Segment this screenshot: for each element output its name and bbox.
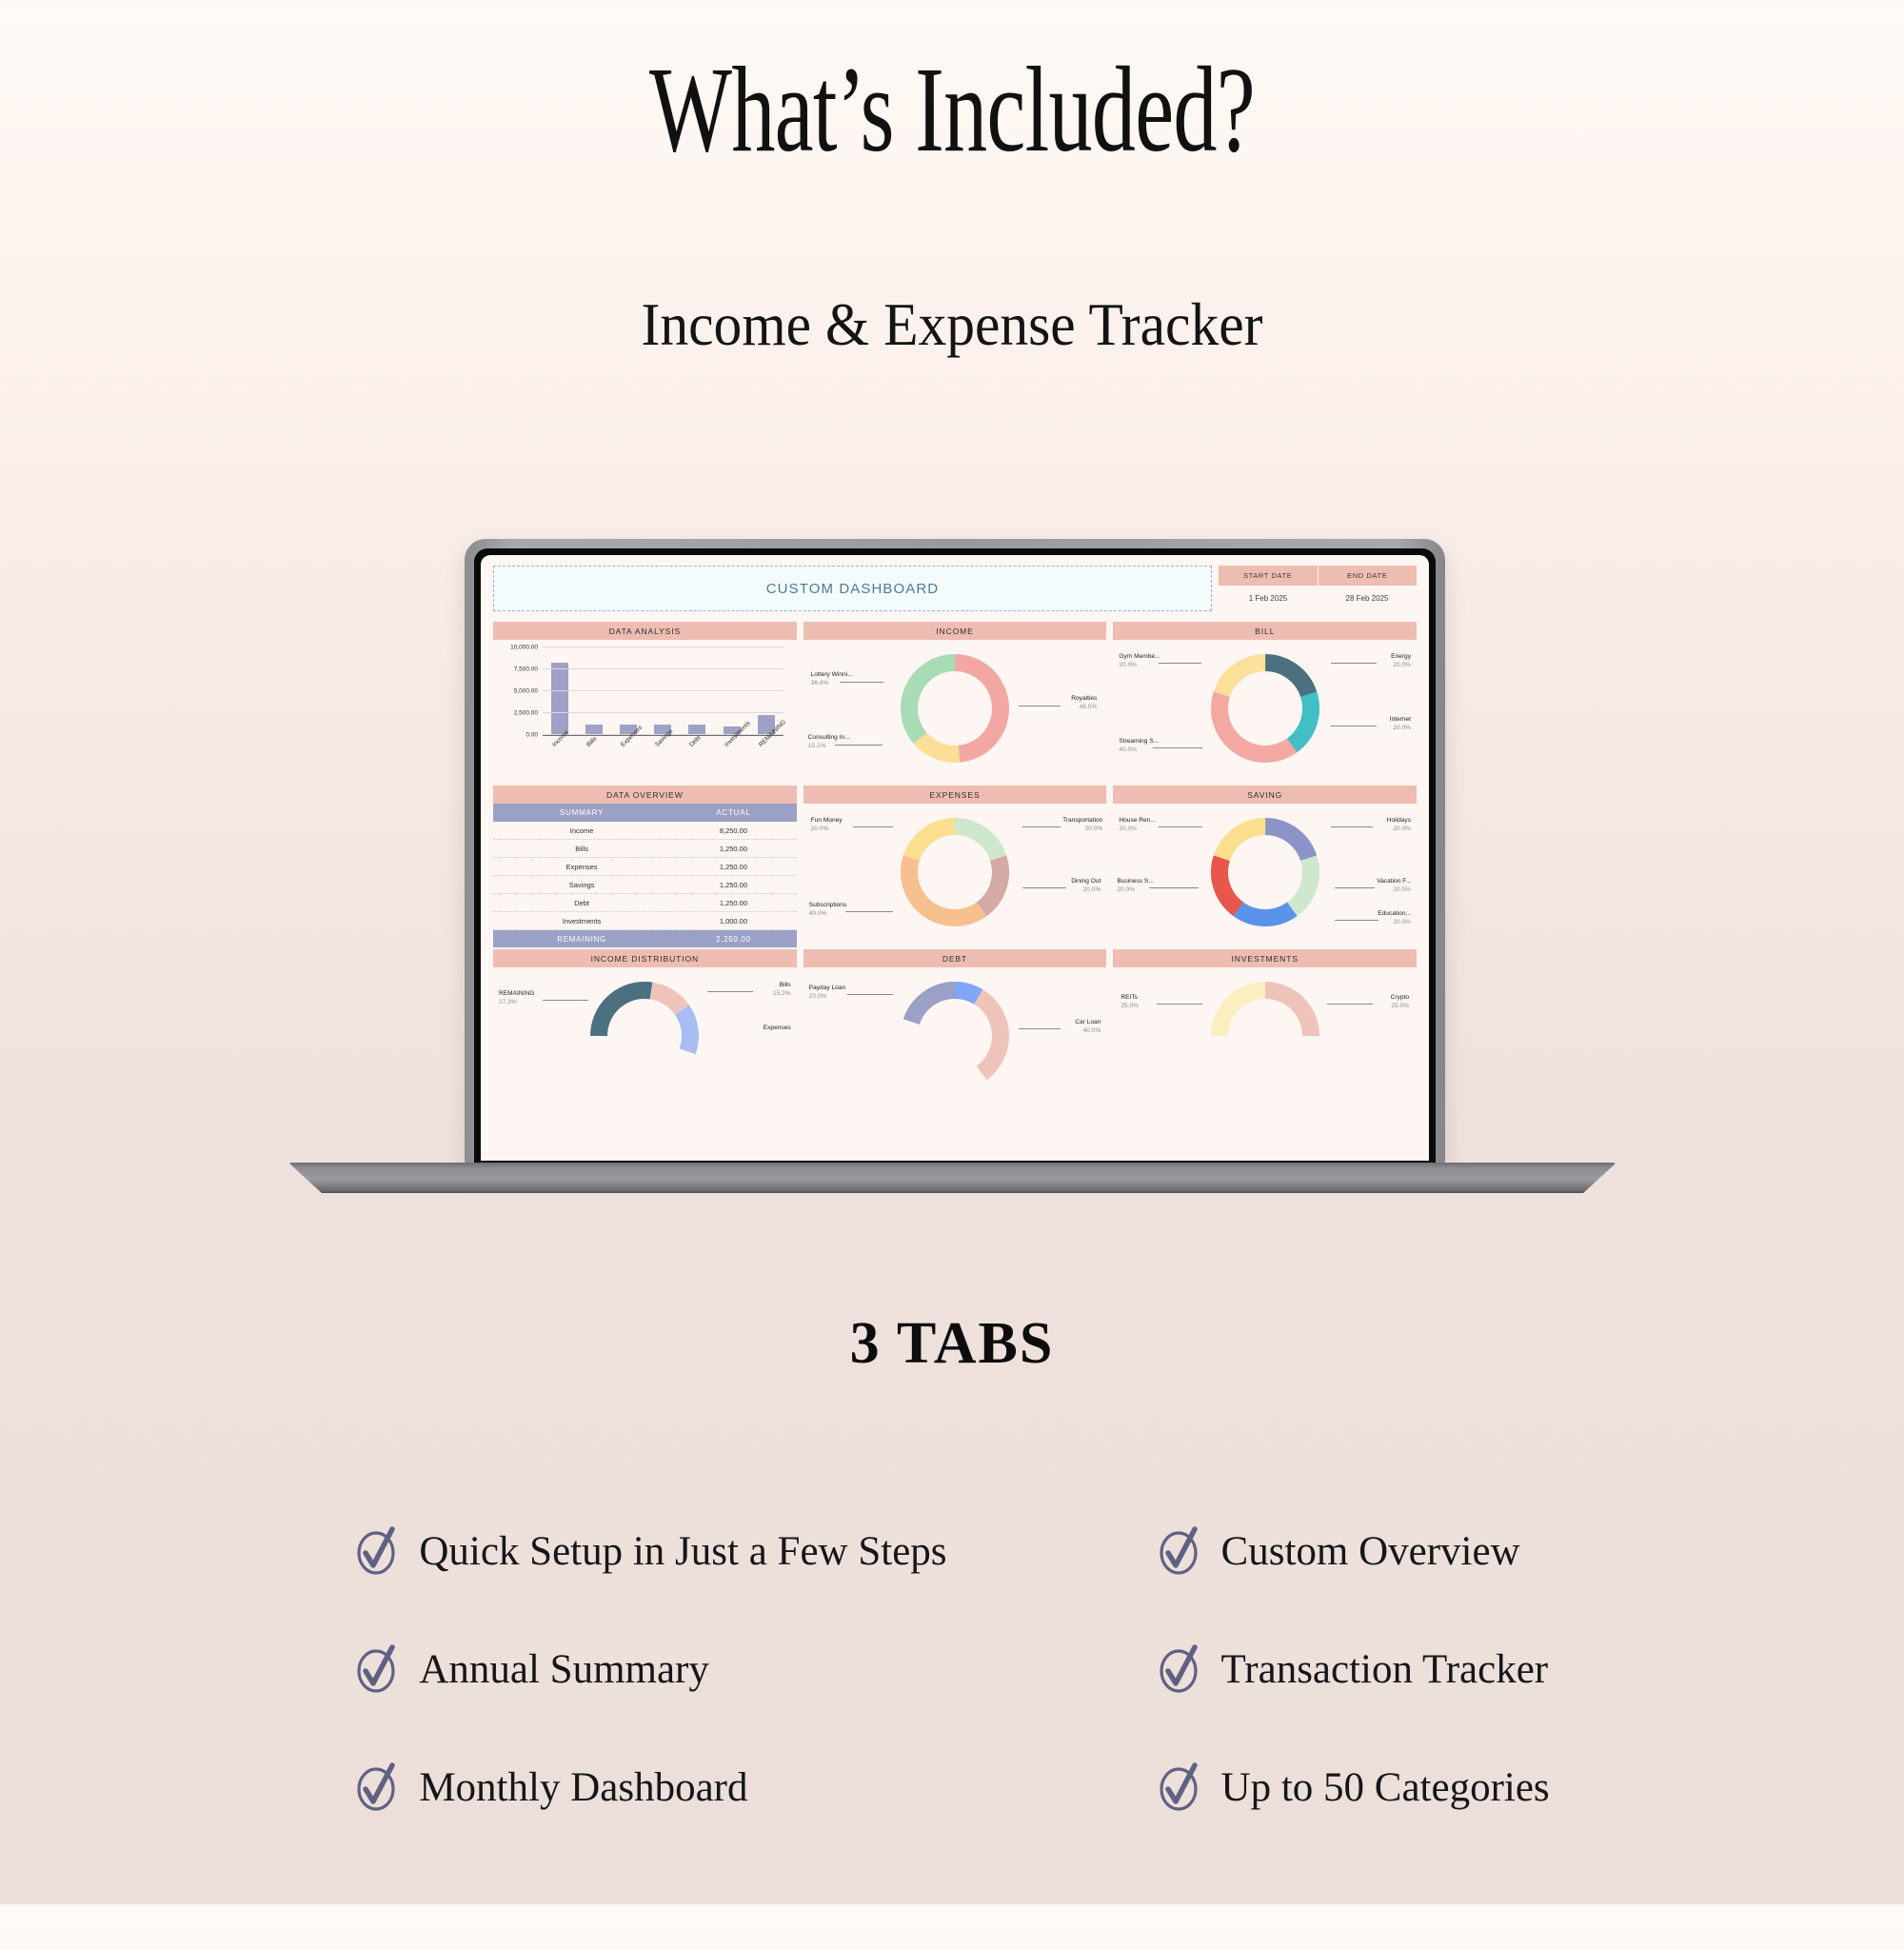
chart-income-distribution: REMAINING 27.3% Bills 15.2%: [493, 967, 797, 1103]
x-axis-tick: Bills: [585, 736, 598, 748]
y-axis-tick: 10,000.00: [510, 645, 538, 651]
summary-row-value: 1,250.00: [670, 894, 797, 912]
expenses-label-dining-out: Dining Out 20.0%: [1071, 878, 1101, 895]
income-distribution-donut-icon: [568, 973, 721, 1099]
panel-title-income-distribution: INCOME DISTRIBUTION: [493, 949, 797, 967]
investments-label-reits: REITs 25.0%: [1121, 994, 1139, 1011]
chart-bill: Gym Membe... 20.0% Streaming S... 40.0%: [1113, 640, 1417, 775]
panel-expenses: EXPENSES: [803, 786, 1107, 939]
saving-label-vacation-fund: Vacation F... 20.0%: [1377, 878, 1411, 895]
gridline: [543, 647, 783, 647]
checklist-column-left: Quick Setup in Just a Few StepsAnnual Su…: [354, 1526, 946, 1812]
bar: [551, 663, 568, 735]
checklist-item-label: Transaction Tracker: [1221, 1646, 1549, 1693]
saving-label-holidays: Holidays 20.0%: [1387, 817, 1411, 834]
table-row: Investments1,000.00: [493, 912, 797, 930]
summary-total-label: REMAINING: [493, 930, 670, 948]
expenses-donut-icon: [879, 809, 1031, 935]
panel-income: INCOME: [803, 622, 1107, 775]
y-axis-tick: 7,500.00: [514, 667, 538, 673]
check-circle-icon: [1157, 1762, 1200, 1812]
bill-label-gym: Gym Membe... 20.0%: [1119, 653, 1160, 670]
product-subtitle: Income & Expense Tracker: [67, 289, 1837, 360]
panel-data-overview: DATA OVERVIEW SUMMARY ACTUAL: [493, 786, 797, 939]
summary-row-label: Income: [493, 822, 670, 840]
laptop-lid: CUSTOM DASHBOARD START DATE END DATE 1 F…: [465, 539, 1445, 1167]
gridline: [543, 712, 783, 713]
chart-saving: House Ren... 20.0% Business S... 20.0%: [1113, 804, 1417, 939]
checklist-item: Quick Setup in Just a Few Steps: [354, 1526, 946, 1576]
feature-checklist: Quick Setup in Just a Few StepsAnnual Su…: [0, 1526, 1904, 1812]
laptop-base: [288, 1163, 1616, 1193]
chart-expenses: Fun Money 20.0% Subscriptions 40.0%: [803, 804, 1107, 939]
panel-bill: BILL: [1113, 622, 1417, 775]
y-axis-tick: 5,000.00: [514, 688, 538, 695]
end-date-header: END DATE: [1318, 566, 1418, 586]
gridline: [543, 690, 783, 691]
chart-income: Lottery Winni... 36.4% Consulting In... …: [803, 640, 1107, 775]
summary-table-header-row: SUMMARY ACTUAL: [493, 804, 797, 822]
check-circle-icon: [1157, 1526, 1200, 1576]
check-circle-icon: [354, 1762, 398, 1812]
checklist-item-label: Custom Overview: [1221, 1528, 1520, 1575]
chart-data-analysis: 0.002,500.005,000.007,500.0010,000.00 In…: [493, 640, 797, 775]
expenses-label-subscriptions: Subscriptions 40.0%: [809, 902, 847, 919]
chart-investments: REITs 25.0% Crypto 25.0%: [1113, 967, 1417, 1103]
gridline: [543, 668, 783, 669]
saving-label-education: Education... 20.0%: [1378, 910, 1411, 927]
y-axis-tick: 0.00: [526, 732, 538, 739]
checklist-item-label: Quick Setup in Just a Few Steps: [419, 1528, 946, 1575]
dashboard-row-1: DATA ANALYSIS 0.002,500.005,000.007,500.…: [493, 622, 1417, 775]
summary-table: SUMMARY ACTUAL Income8,250.00Bills1,250.…: [493, 804, 797, 947]
checklist-item-label: Monthly Dashboard: [419, 1764, 747, 1811]
panel-title-data-overview: DATA OVERVIEW: [493, 786, 797, 804]
investments-label-crypto: Crypto 25.0%: [1391, 994, 1409, 1011]
panel-investments: INVESTMENTS: [1113, 949, 1417, 1103]
checklist-item: Custom Overview: [1157, 1526, 1550, 1576]
laptop-mockup: CUSTOM DASHBOARD START DATE END DATE 1 F…: [288, 539, 1616, 1205]
table-row: Savings1,250.00: [493, 876, 797, 894]
summary-col-actual: ACTUAL: [670, 804, 797, 822]
summary-table-wrap: SUMMARY ACTUAL Income8,250.00Bills1,250.…: [493, 804, 797, 939]
income-donut-icon: [879, 646, 1031, 771]
panel-title-debt: DEBT: [803, 949, 1107, 967]
spreadsheet-dashboard: CUSTOM DASHBOARD START DATE END DATE 1 F…: [481, 555, 1429, 1161]
expenses-label-fun-money: Fun Money 20.0%: [811, 817, 843, 834]
bill-label-energy: Energy 20.0%: [1391, 653, 1411, 670]
panel-income-distribution: INCOME DISTRIBUTION: [493, 949, 797, 1103]
checklist-column-right: Custom OverviewTransaction TrackerUp to …: [1157, 1526, 1550, 1812]
table-row: Income8,250.00: [493, 822, 797, 840]
investments-donut-icon: [1189, 973, 1341, 1099]
start-date-value[interactable]: 1 Feb 2025: [1219, 586, 1318, 611]
summary-row-value: 1,000.00: [670, 912, 797, 930]
panel-title-investments: INVESTMENTS: [1113, 949, 1417, 967]
panel-title-data-analysis: DATA ANALYSIS: [493, 622, 797, 640]
income-label-consulting: Consulting In... 15.2%: [808, 734, 850, 751]
table-row: Bills1,250.00: [493, 840, 797, 858]
check-circle-icon: [1157, 1644, 1200, 1694]
summary-row-value: 1,250.00: [670, 858, 797, 876]
table-row: Expenses1,250.00: [493, 858, 797, 876]
y-axis-tick: 2,500.00: [514, 710, 538, 717]
summary-row-label: Bills: [493, 840, 670, 858]
bar-x-axis-labels: IncomeBillsExpensesSavingsDebtInvestment…: [543, 736, 783, 774]
bill-label-streaming: Streaming S... 40.0%: [1119, 738, 1159, 755]
summary-row-value: 8,250.00: [670, 822, 797, 840]
debt-donut-icon: [879, 973, 1031, 1099]
saving-donut-icon: [1189, 809, 1341, 935]
summary-total-value: 2,250.00: [670, 930, 797, 948]
laptop-screen: CUSTOM DASHBOARD START DATE END DATE 1 F…: [481, 555, 1429, 1161]
saving-label-business-savings: Business S... 20.0%: [1117, 878, 1153, 895]
page-title: What’s Included?: [267, 46, 1637, 173]
income-dist-label-bills: Bills 15.2%: [773, 982, 791, 999]
checklist-item: Up to 50 Categories: [1157, 1762, 1550, 1812]
tabs-count-title: 3 TABS: [0, 1310, 1904, 1378]
chart-debt: Payday Loan 20.0% Car Loan 40.0%: [803, 967, 1107, 1103]
x-axis-tick: Debt: [688, 734, 703, 748]
check-circle-icon: [354, 1644, 398, 1694]
checklist-item-label: Up to 50 Categories: [1221, 1764, 1550, 1811]
panel-title-saving: SAVING: [1113, 786, 1417, 804]
check-circle-icon: [354, 1526, 398, 1576]
table-row-total: REMAINING2,250.00: [493, 930, 797, 948]
panel-saving: SAVING: [1113, 786, 1417, 939]
panel-title-bill: BILL: [1113, 622, 1417, 640]
income-dist-label-remaining: REMAINING 27.3%: [499, 990, 534, 1007]
dashboard-row-2: DATA OVERVIEW SUMMARY ACTUAL: [493, 786, 1417, 939]
saving-label-house-rent: House Ren... 20.0%: [1119, 817, 1155, 834]
dashboard-title-cell: CUSTOM DASHBOARD: [493, 566, 1212, 611]
summary-col-label: SUMMARY: [493, 804, 670, 822]
bill-donut-icon: [1189, 646, 1341, 771]
checklist-item: Annual Summary: [354, 1644, 946, 1694]
debt-label-car-loan: Car Loan 40.0%: [1075, 1019, 1101, 1036]
end-date-value[interactable]: 28 Feb 2025: [1318, 586, 1417, 611]
summary-row-value: 1,250.00: [670, 876, 797, 894]
table-row: Debt1,250.00: [493, 894, 797, 912]
checklist-item: Transaction Tracker: [1157, 1644, 1550, 1694]
dashboard-header: CUSTOM DASHBOARD START DATE END DATE 1 F…: [493, 566, 1417, 611]
dashboard-title: CUSTOM DASHBOARD: [766, 581, 940, 597]
summary-row-label: Investments: [493, 912, 670, 930]
expenses-label-transportation: Transportation 20.0%: [1062, 817, 1102, 834]
income-label-lottery: Lottery Winni... 36.4%: [811, 671, 853, 688]
summary-row-label: Savings: [493, 876, 670, 894]
summary-row-label: Debt: [493, 894, 670, 912]
dashboard-row-3: INCOME DISTRIBUTION: [493, 949, 1417, 1103]
laptop-bezel: CUSTOM DASHBOARD START DATE END DATE 1 F…: [474, 548, 1436, 1167]
date-range-block: START DATE END DATE 1 Feb 2025 28 Feb 20…: [1219, 566, 1417, 611]
panel-title-expenses: EXPENSES: [803, 786, 1107, 804]
checklist-item: Monthly Dashboard: [354, 1762, 946, 1812]
panel-data-analysis: DATA ANALYSIS 0.002,500.005,000.007,500.…: [493, 622, 797, 775]
checklist-item-label: Annual Summary: [419, 1646, 709, 1693]
panel-debt: DEBT: [803, 949, 1107, 1103]
income-dist-label-expenses: Expenses: [764, 1025, 791, 1033]
debt-label-payday-loan: Payday Loan 20.0%: [809, 985, 846, 1002]
start-date-header: START DATE: [1219, 566, 1318, 586]
income-label-royalties: Royalties 48.5%: [1071, 695, 1097, 712]
summary-row-value: 1,250.00: [670, 840, 797, 858]
summary-row-label: Expenses: [493, 858, 670, 876]
panel-title-income: INCOME: [803, 622, 1107, 640]
bill-label-internet: Internet 20.0%: [1390, 716, 1411, 733]
